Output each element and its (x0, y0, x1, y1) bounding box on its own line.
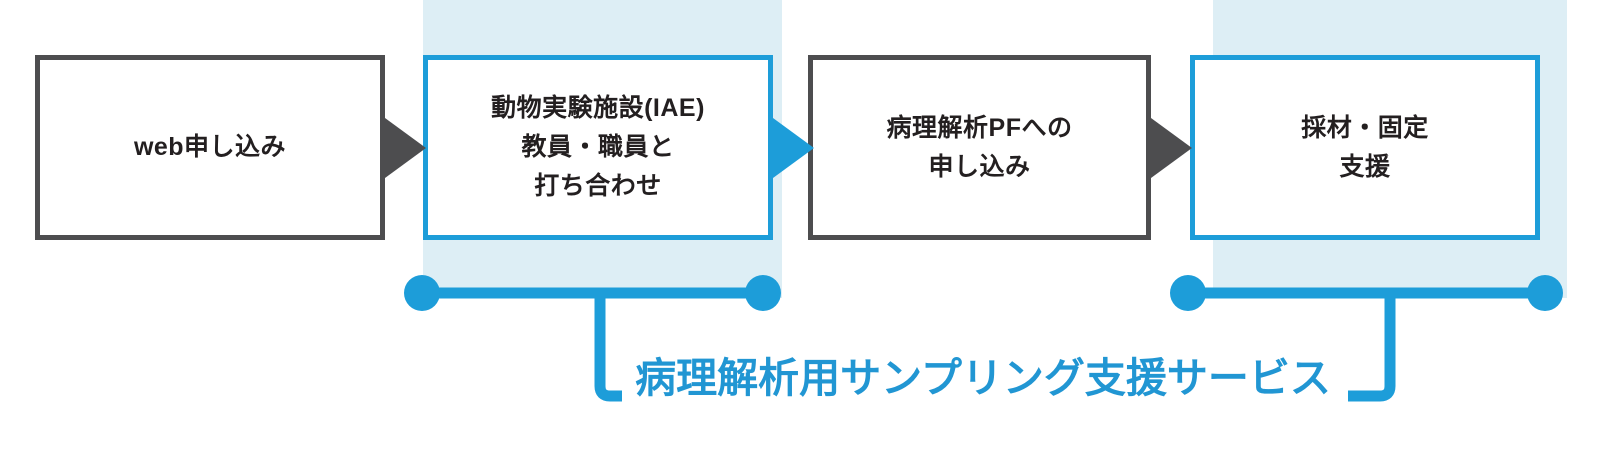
flow-step-3-line-2: 申し込み (928, 148, 1030, 187)
flow-step-pathology-pf-application[interactable]: 病理解析PFへの 申し込み (808, 55, 1151, 240)
flow-step-4-line-2: 支援 (1339, 148, 1390, 187)
flow-step-web-application[interactable]: web申し込み (35, 55, 385, 240)
flow-step-3-line-1: 病理解析PFへの (887, 109, 1073, 148)
flow-step-4-line-1: 採材・固定 (1301, 109, 1429, 148)
flow-step-sampling-fixation-support[interactable]: 採材・固定 支援 (1190, 55, 1540, 240)
flow-step-2-line-3: 打ち合わせ (534, 167, 662, 206)
bracket-dot-right-start (1170, 275, 1206, 311)
flow-step-2-line-2: 教員・職員と (521, 128, 674, 167)
diagram-canvas: web申し込み 動物実験施設(IAE) 教員・職員と 打ち合わせ 病理解析PFへ… (0, 0, 1600, 450)
bracket-leg-left (600, 293, 622, 396)
bracket-leg-right (1348, 293, 1390, 396)
flow-step-2-line-1: 動物実験施設(IAE) (491, 89, 705, 128)
arrow-right-icon-1 (385, 118, 426, 178)
service-label: 病理解析用サンプリング支援サービス (633, 358, 1333, 399)
flow-step-1-line-1: web申し込み (134, 128, 286, 167)
arrow-right-icon-2 (773, 118, 814, 178)
flow-step-iae-meeting[interactable]: 動物実験施設(IAE) 教員・職員と 打ち合わせ (423, 55, 773, 240)
arrow-right-icon-3 (1151, 118, 1192, 178)
